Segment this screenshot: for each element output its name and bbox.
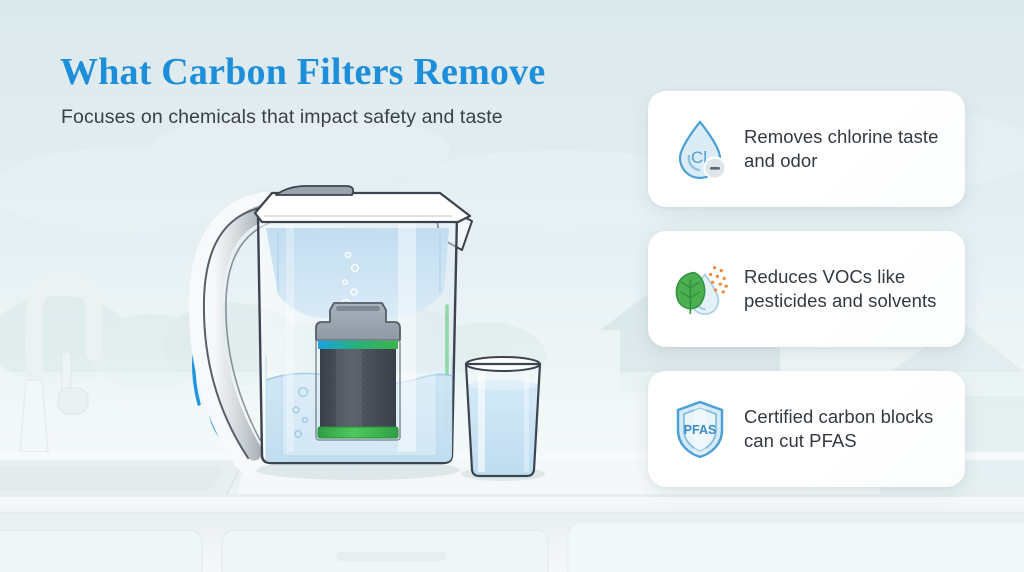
page-subtitle: Focuses on chemicals that impact safety …: [61, 106, 503, 129]
water-drop-chlorine-icon: Cl: [670, 116, 730, 182]
icon-label-pfas: PFAS: [684, 423, 717, 437]
benefit-card-vocs[interactable]: Reduces VOCs like pesticides and solvent…: [648, 231, 965, 347]
carbon-filter-cartridge: [316, 303, 400, 440]
card-text-pfas: Certified carbon blocks can cut PFAS: [744, 405, 947, 453]
leaf-droplet-particles-icon: [670, 256, 730, 322]
water-glass: [464, 357, 544, 479]
filter-pitcher-body: [255, 186, 472, 463]
minus-badge-icon: [710, 167, 720, 170]
infographic-canvas: What Carbon Filters Remove Focuses on ch…: [0, 0, 1024, 572]
card-text-chlorine: Removes chlorine taste and odor: [744, 125, 947, 173]
page-title: What Carbon Filters Remove: [60, 50, 545, 94]
pitcher-lid: [255, 186, 470, 222]
benefit-card-pfas[interactable]: PFAS Certified carbon blocks can cut PFA…: [648, 371, 965, 487]
shield-pfas-icon: PFAS: [670, 396, 730, 462]
lid-tab: [276, 186, 353, 195]
card-text-vocs: Reduces VOCs like pesticides and solvent…: [744, 265, 947, 313]
benefit-card-chlorine[interactable]: Cl Removes chlorine taste and odor: [648, 91, 965, 207]
glass-water: [464, 384, 544, 479]
